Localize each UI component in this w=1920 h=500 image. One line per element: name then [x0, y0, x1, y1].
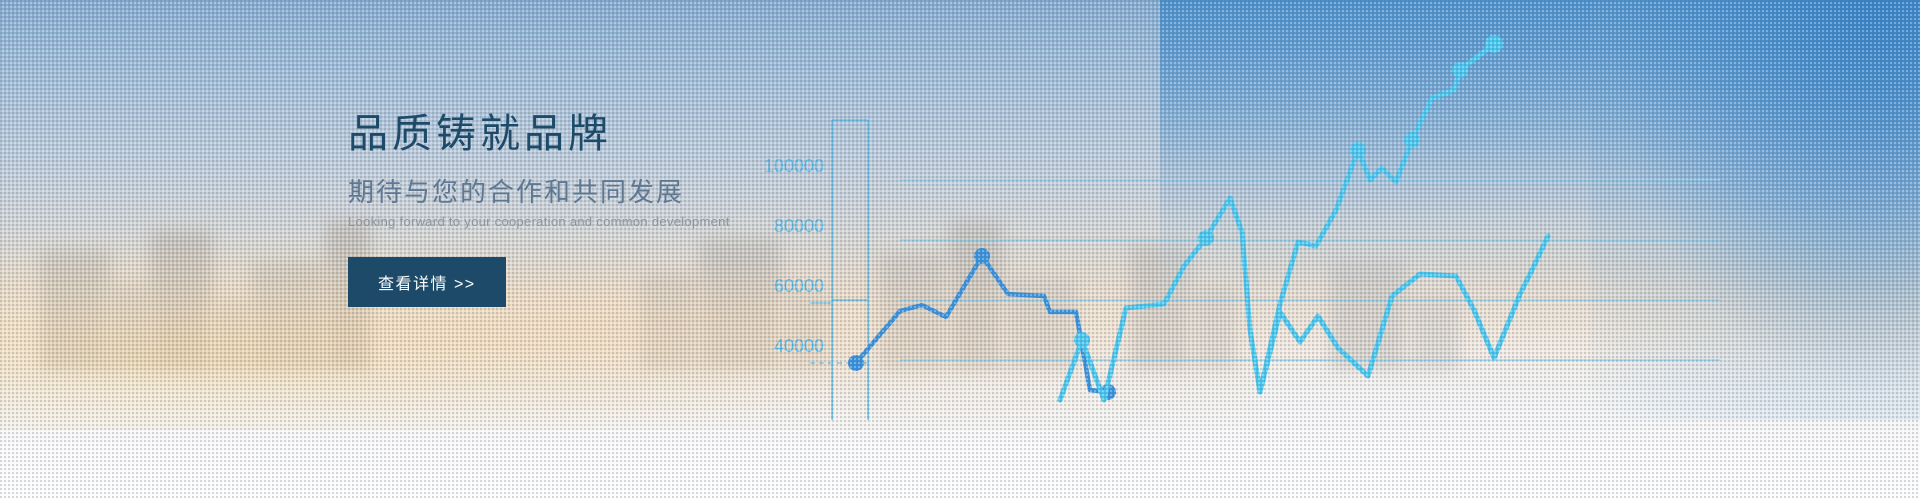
view-details-button[interactable]: 查看详情 >> — [348, 257, 506, 307]
page-title: 品质铸就品牌 — [348, 112, 868, 156]
hero-english-tagline: Looking forward to your cooperation and … — [348, 214, 868, 231]
hero-subtitle: 期待与您的合作和共同发展 — [348, 178, 868, 208]
hero-banner: 100000 80000 60000 40000 — [0, 0, 1920, 500]
hero-copy-block: 品质铸就品牌 期待与您的合作和共同发展 Looking forward to y… — [348, 112, 868, 307]
halftone-overlay-light — [0, 0, 1920, 500]
